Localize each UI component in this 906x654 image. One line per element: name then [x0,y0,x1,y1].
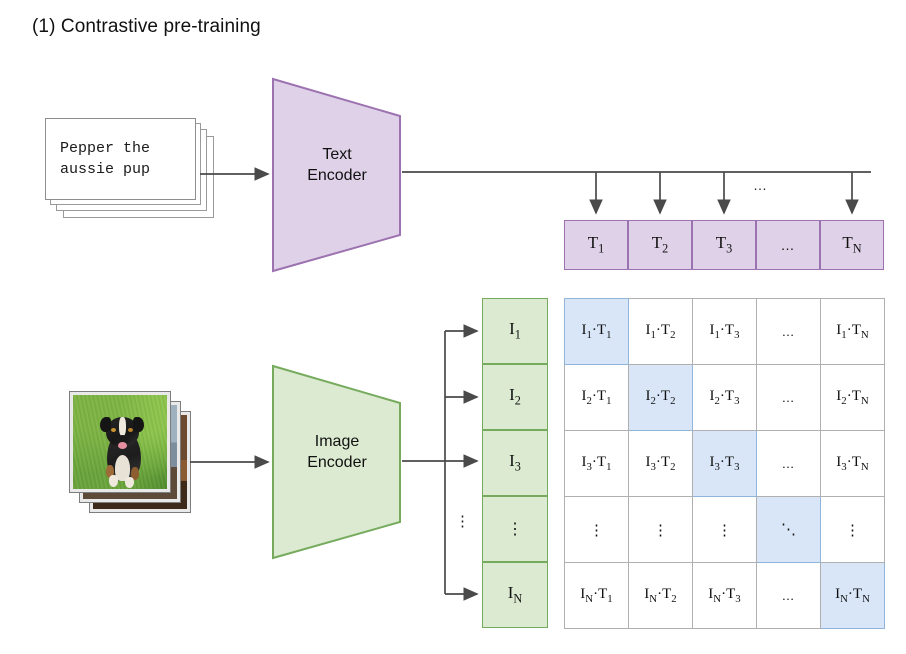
image-encoder-label-line2: Encoder [272,452,402,473]
image-encoder: Image Encoder [272,365,402,559]
text-encoder-label-line1: Text [272,144,402,165]
matrix-cell-text: IN·T2 [644,586,676,602]
matrix-cell-text: I3·T1 [582,454,612,470]
matrix-cell[interactable]: I1·T1 [565,299,629,365]
image-trunk-ellipsis: ⋮ [455,512,470,530]
matrix-cell-text: I1·T3 [710,322,740,338]
text-card-front: Pepper the aussie pup [45,118,196,200]
image-encoder-label: Image Encoder [272,431,402,473]
matrix-cell-text: I2·T2 [646,388,676,404]
puppy-tongue [118,442,127,449]
text-caption: Pepper the aussie pup [60,138,150,180]
matrix-cell[interactable]: I1·T3 [693,299,757,365]
matrix-cell-ellipsis: ⋮ [821,497,885,563]
text-embedding-cell-ellipsis: … [756,220,820,270]
matrix-cell[interactable]: IN·T1 [565,563,629,629]
matrix-cell[interactable]: I3·T3 [693,431,757,497]
text-embedding-label-3: T3 [716,233,733,256]
text-embedding-cell-3[interactable]: T3 [692,220,756,270]
puppy-eye-right [128,428,133,432]
image-embedding-cell-1[interactable]: I1 [482,298,548,364]
matrix-cell-text: I3·T2 [646,454,676,470]
puppy-eye-left [111,428,116,432]
text-encoder-label: Text Encoder [272,144,402,186]
figure-canvas: (1) Contrastive pre-training Pepper the … [0,0,906,654]
text-embedding-cell-1[interactable]: T1 [564,220,628,270]
image-thumbnail-front [70,392,170,492]
text-bus-ellipsis: … [753,177,768,193]
puppy-paw-right [125,477,134,488]
matrix-cell[interactable]: I2·T1 [565,365,629,431]
similarity-matrix: I1·T1I1·T2I1·T3…I1·TNI2·T1I2·T2I2·T3…I2·… [564,298,885,629]
matrix-cell-ellipsis: … [757,563,821,629]
image-embedding-cell-3[interactable]: I3 [482,430,548,496]
matrix-cell-text: I3·TN [836,454,868,470]
matrix-cell[interactable]: IN·TN [821,563,885,629]
image-embedding-label-2: I2 [509,385,521,408]
matrix-cell-text: I2·T3 [710,388,740,404]
matrix-row: IN·T1IN·T2IN·T3…IN·TN [565,563,885,629]
text-embedding-label-n: TN [842,233,861,256]
puppy-blaze [119,417,126,436]
text-caption-stack: Pepper the aussie pup [45,118,215,218]
puppy-paw-left [109,475,118,487]
image-embedding-label-3: I3 [509,451,521,474]
matrix-row: I1·T1I1·T2I1·T3…I1·TN [565,299,885,365]
matrix-cell[interactable]: I1·T2 [629,299,693,365]
matrix-cell-text: IN·T1 [580,586,612,602]
matrix-cell-ellipsis: ⋮ [629,497,693,563]
matrix-cell[interactable]: I2·T3 [693,365,757,431]
text-embedding-label-1: T1 [588,233,605,256]
matrix-cell-text: I1·TN [836,322,868,338]
image-embedding-label-n: IN [508,583,523,606]
image-embedding-cell-2[interactable]: I2 [482,364,548,430]
matrix-cell-ellipsis: ⋱ [757,497,821,563]
matrix-row: I2·T1I2·T2I2·T3…I2·TN [565,365,885,431]
image-embedding-column: I1 I2 I3 ⋮ IN [482,298,548,628]
image-embedding-label-1: I1 [509,319,521,342]
matrix-cell-ellipsis: ⋮ [565,497,629,563]
image-encoder-label-line1: Image [272,431,402,452]
matrix-cell[interactable]: IN·T3 [693,563,757,629]
matrix-cell-ellipsis: ⋮ [693,497,757,563]
image-embedding-cell-n[interactable]: IN [482,562,548,628]
image-thumbnail-stack [70,392,190,512]
matrix-cell-text: I1·T2 [646,322,676,338]
puppy-ear-left [100,417,111,432]
matrix-cell[interactable]: I2·TN [821,365,885,431]
matrix-cell-text: I2·TN [836,388,868,404]
matrix-row: I3·T1I3·T2I3·T3…I3·TN [565,431,885,497]
matrix-row: ⋮⋮⋮⋱⋮ [565,497,885,563]
matrix-cell-text: I1·T1 [582,322,612,338]
text-encoder: Text Encoder [272,78,402,272]
matrix-cell[interactable]: IN·T2 [629,563,693,629]
matrix-cell-text: IN·TN [835,586,870,602]
matrix-cell[interactable]: I3·T1 [565,431,629,497]
text-embedding-cell-2[interactable]: T2 [628,220,692,270]
matrix-cell-text: IN·T3 [708,586,740,602]
text-embedding-cell-n[interactable]: TN [820,220,884,270]
matrix-cell[interactable]: I2·T2 [629,365,693,431]
matrix-cell-text: I3·T3 [710,454,740,470]
matrix-cell-text: I2·T1 [582,388,612,404]
image-embedding-cell-ellipsis: ⋮ [482,496,548,562]
figure-title: (1) Contrastive pre-training [32,16,261,38]
text-encoder-label-line2: Encoder [272,165,402,186]
matrix-cell-ellipsis: … [757,299,821,365]
matrix-cell[interactable]: I3·T2 [629,431,693,497]
puppy-ear-right [133,417,144,432]
matrix-cell[interactable]: I1·TN [821,299,885,365]
matrix-cell-ellipsis: … [757,365,821,431]
matrix-cell-ellipsis: … [757,431,821,497]
text-embedding-label-2: T2 [652,233,669,256]
matrix-cell[interactable]: I3·TN [821,431,885,497]
text-embedding-row: T1 T2 T3 … TN [564,220,884,270]
